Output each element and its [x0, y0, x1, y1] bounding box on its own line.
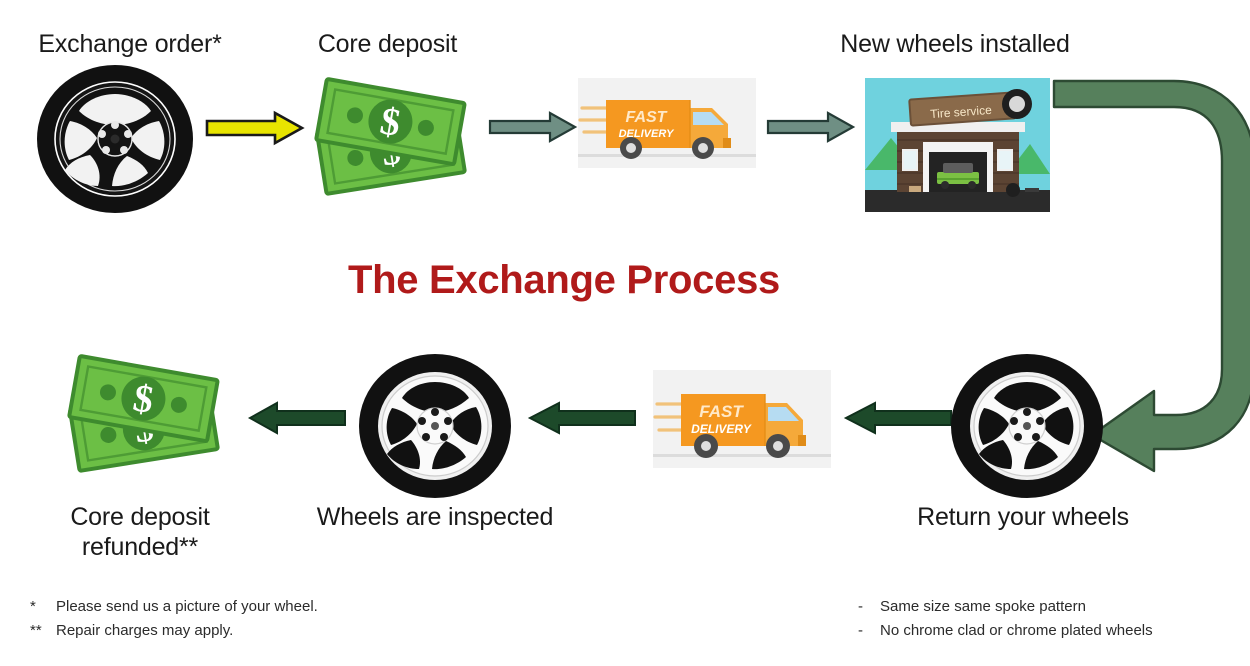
footnotes-left: * Please send us a picture of your wheel…: [30, 595, 318, 644]
cash-money-icon-deposit: $ $: [305, 75, 480, 205]
arrow-return-to-truck: [843, 400, 953, 436]
tire-service-shop-icon: Tire service: [865, 78, 1050, 212]
fast-delivery-truck-icon-inbound: FAST DELIVERY: [653, 370, 831, 468]
step-label-exchange-order: Exchange order*: [0, 30, 260, 60]
arrow-order-to-deposit: [205, 110, 305, 146]
step-label-wheels-are-inspected: Wheels are inspected: [300, 503, 570, 533]
footnote-row: * Please send us a picture of your wheel…: [30, 595, 318, 619]
arrow-truck-to-shop: [766, 110, 856, 144]
footnote-text: Same size same spoke pattern: [880, 595, 1086, 619]
fast-delivery-truck-icon-outbound: FAST DELIVERY: [578, 78, 756, 168]
silver-alloy-wheel-icon-return: [950, 352, 1105, 500]
footnote-marker: -: [858, 595, 880, 619]
footnote-text: No chrome clad or chrome plated wheels: [880, 619, 1153, 643]
step-label-new-wheels-installed: New wheels installed: [810, 30, 1100, 60]
footnote-text: Please send us a picture of your wheel.: [56, 595, 318, 619]
arrow-truck-to-inspected: [527, 400, 637, 436]
footnote-marker: *: [30, 595, 56, 619]
footnote-text: Repair charges may apply.: [56, 619, 233, 643]
svg-text:DELIVERY: DELIVERY: [691, 422, 752, 436]
step-label-return-your-wheels: Return your wheels: [898, 503, 1148, 533]
arrow-deposit-to-truck: [488, 110, 578, 144]
footnote-marker: -: [858, 619, 880, 643]
black-alloy-wheel-icon: [35, 63, 195, 215]
step-label-core-deposit: Core deposit: [285, 30, 490, 60]
svg-text:FAST: FAST: [626, 109, 668, 126]
svg-text:FAST: FAST: [699, 402, 744, 421]
footnote-row: ** Repair charges may apply.: [30, 619, 318, 643]
footnote-row: - No chrome clad or chrome plated wheels: [858, 619, 1153, 643]
exchange-process-diagram: Exchange order* Core deposit New wheels …: [0, 0, 1250, 666]
arrow-inspected-to-refund: [247, 400, 347, 436]
footnote-row: - Same size same spoke pattern: [858, 595, 1153, 619]
diagram-title: The Exchange Process: [348, 258, 780, 303]
step-label-core-deposit-refunded: Core deposit refunded**: [20, 503, 260, 562]
footnote-marker: **: [30, 619, 56, 643]
footnotes-right: - Same size same spoke pattern - No chro…: [858, 595, 1153, 644]
silver-alloy-wheel-icon-inspected: [358, 352, 513, 500]
cash-money-icon-refund: $ $: [58, 352, 233, 482]
